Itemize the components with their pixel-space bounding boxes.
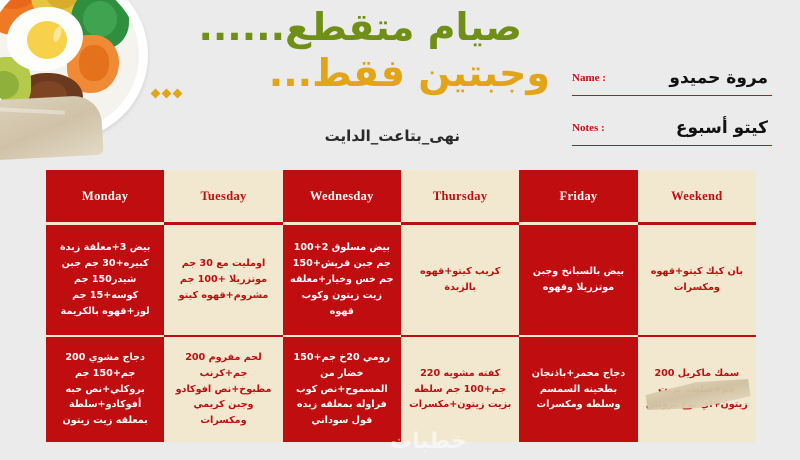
egg-yolk-icon: [27, 21, 67, 59]
diamond-icon: [173, 89, 183, 99]
meal-cell-wednesday-breakfast: بيض مسلوق 2+100 جم جبن قريش+150 جم خس وخ…: [283, 225, 401, 335]
column-header-friday: Friday: [519, 170, 637, 222]
meal-cell-monday-lunch: دجاج مشوي 200 جم+150 جم بروكلي+نص حبه أف…: [46, 337, 164, 442]
notes-underline: [572, 145, 772, 146]
column-header-weekend: Weekend: [638, 170, 756, 222]
client-fields: Name : مروة حميدو Notes : كيتو أسبوع: [572, 68, 772, 168]
meal-cell-friday-lunch: دجاج محمر+باذنجان بطحينه السمسم وسلطه وم…: [519, 337, 637, 442]
kimchi-highlight-icon: [79, 45, 109, 81]
napkin-cloth: [0, 95, 103, 162]
meal-cell-tuesday-lunch: لحم مفروم 200 جم+كرنب مطبوخ+نص افوكادو و…: [164, 337, 282, 442]
day-column-thursday: Thursday كريب كيتو+قهوه بالزبدة كفته مشو…: [401, 170, 519, 442]
name-underline: [572, 95, 772, 96]
notes-value[interactable]: كيتو أسبوع: [676, 118, 768, 138]
meal-cell-monday-breakfast: بيض 3+معلقة زبدة كبيره+30 جم جبن شيدر150…: [46, 225, 164, 335]
column-header-tuesday: Tuesday: [164, 170, 282, 222]
notes-field-row: Notes : كيتو أسبوع: [572, 118, 772, 152]
column-header-thursday: Thursday: [401, 170, 519, 222]
author-handle: نهى_بتاعت_الدايت: [325, 127, 460, 145]
name-label: Name :: [572, 72, 606, 84]
notes-label: Notes :: [572, 122, 605, 134]
day-column-wednesday: Wednesday بيض مسلوق 2+100 جم جبن قريش+15…: [283, 170, 401, 442]
column-header-monday: Monday: [46, 170, 164, 222]
day-column-tuesday: Tuesday اوملیت مع 30 جم موتزريلا +100 جم…: [164, 170, 282, 442]
headline-block: صيام متقطع...... وجبتين فقط...: [198, 8, 522, 94]
diamond-ornament: [152, 90, 181, 97]
meal-cell-thursday-lunch: كفته مشويه 220 جم+100 جم سلطه بزيت زيتون…: [401, 337, 519, 442]
diamond-icon: [151, 89, 161, 99]
bibimbap-bowl-illustration: [0, 0, 178, 160]
meal-cell-friday-breakfast: بيض بالسبانخ وجبن موتزريلا وقهوه: [519, 225, 637, 335]
infographic-page: صيام متقطع...... وجبتين فقط... نهى_بتاعت…: [0, 0, 800, 460]
weekly-meal-plan-table: Monday بيض 3+معلقة زبدة كبيره+30 جم جبن …: [46, 170, 756, 442]
name-value[interactable]: مروة حميدو: [669, 68, 768, 88]
meal-cell-wednesday-lunch: رومي 20خ جم+150 خضار من المسموح+نص كوب ف…: [283, 337, 401, 442]
meal-cell-weekend-breakfast: بان كيك كيتو+قهوه ومكسرات: [638, 225, 756, 335]
headline-line-1: صيام متقطع......: [198, 8, 522, 48]
column-header-wednesday: Wednesday: [283, 170, 401, 222]
headline-line-2: وجبتين فقط...: [198, 54, 550, 94]
diamond-icon: [162, 89, 172, 99]
meal-cell-thursday-breakfast: كريب كيتو+قهوه بالزبدة: [401, 225, 519, 335]
spinach-highlight-icon: [83, 1, 117, 37]
name-field-row: Name : مروة حميدو: [572, 68, 772, 102]
meal-cell-tuesday-breakfast: اوملیت مع 30 جم موتزريلا +100 جم مشروم+ق…: [164, 225, 282, 335]
day-column-friday: Friday بيض بالسبانخ وجبن موتزريلا وقهوه …: [519, 170, 637, 442]
day-column-weekend: Weekend بان كيك كيتو+قهوه ومكسرات سمك ما…: [638, 170, 756, 442]
day-column-monday: Monday بيض 3+معلقة زبدة كبيره+30 جم جبن …: [46, 170, 164, 442]
